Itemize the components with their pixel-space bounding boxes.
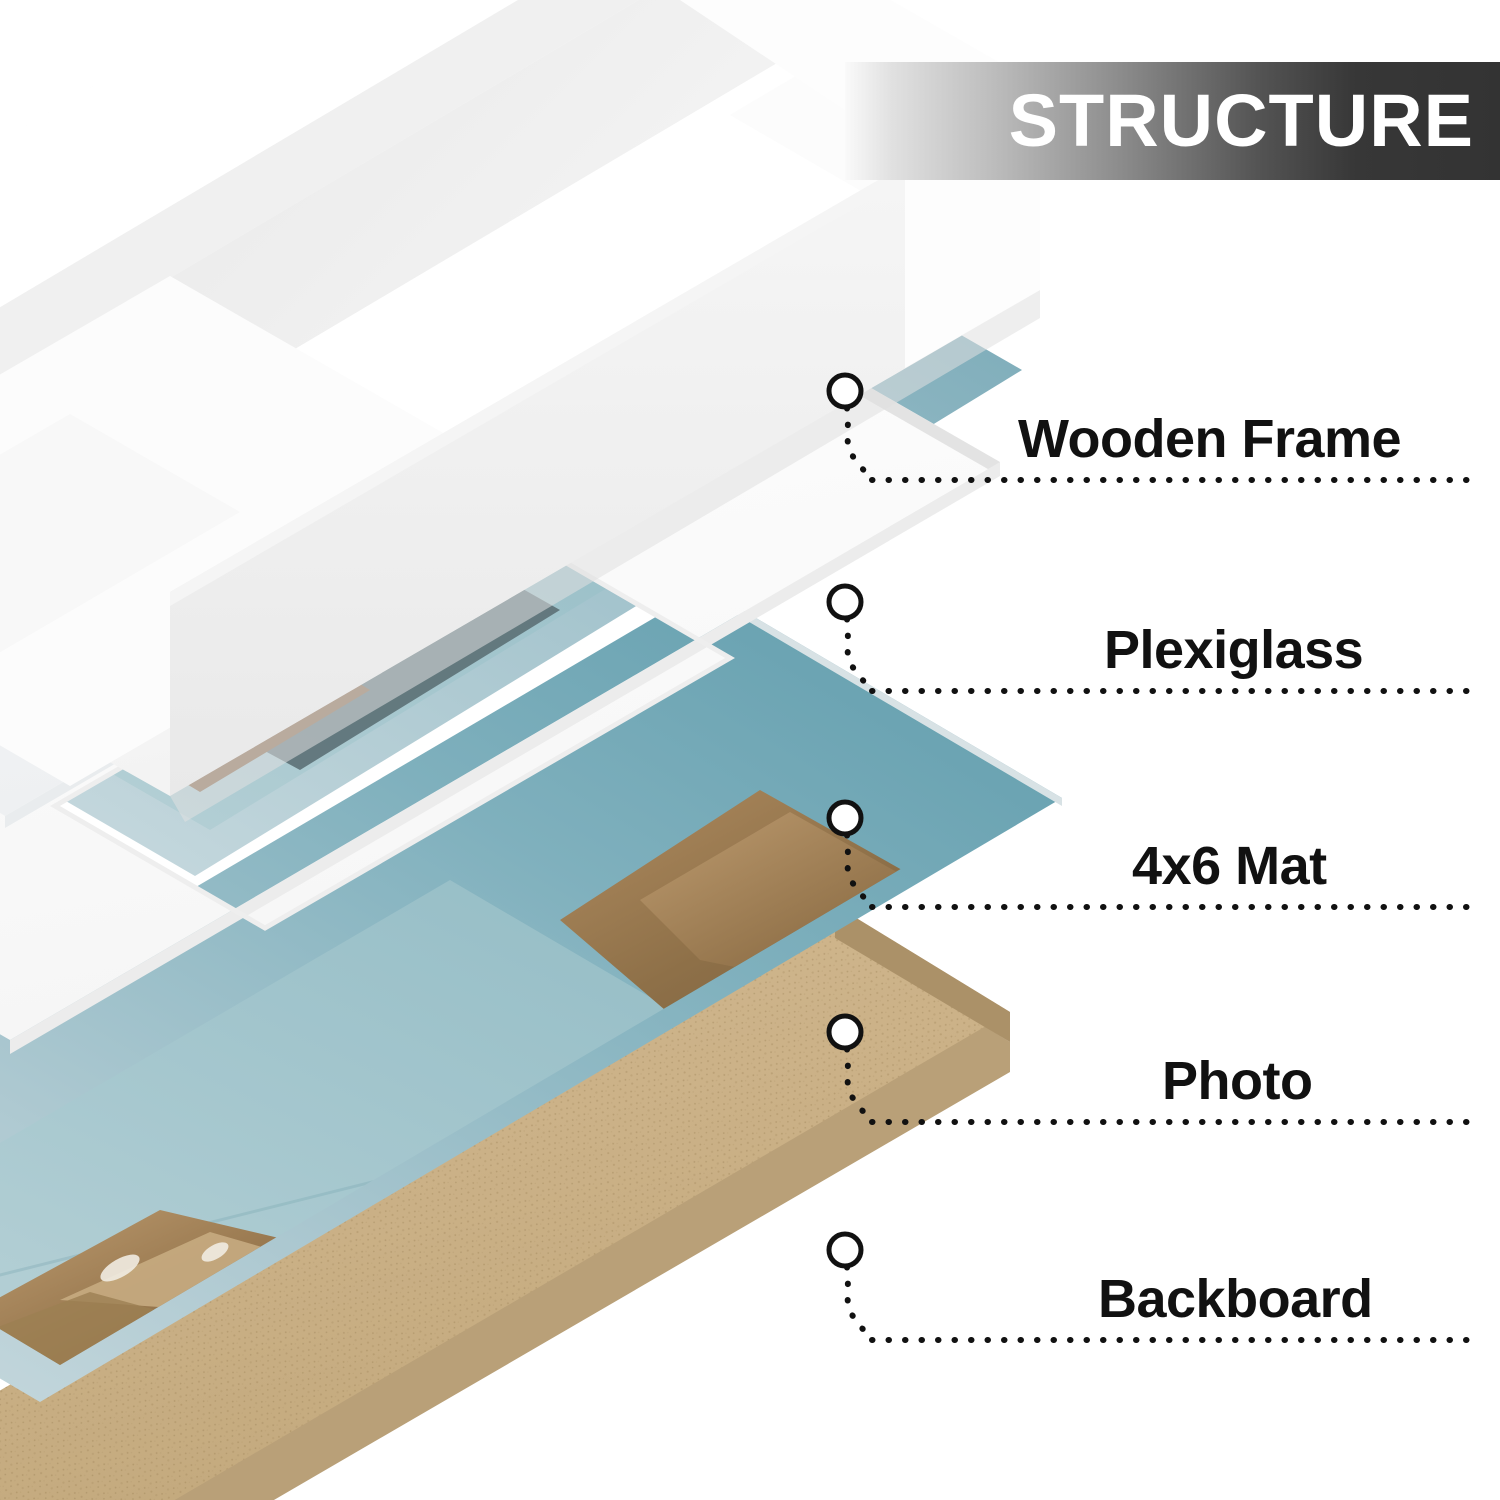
callout-label-plexiglass: Plexiglass <box>1104 623 1363 677</box>
callout-labels: Wooden FramePlexiglass4x6 MatPhotoBackbo… <box>0 0 1500 1500</box>
callout-label-wooden-frame: Wooden Frame <box>1018 412 1401 466</box>
callout-label-photo: Photo <box>1162 1054 1312 1108</box>
product-structure-infographic: STRUCTURE Wooden FramePlexiglass4x6 MatP… <box>0 0 1500 1500</box>
callout-label-backboard: Backboard <box>1098 1272 1373 1326</box>
callout-label-mat: 4x6 Mat <box>1132 839 1327 893</box>
